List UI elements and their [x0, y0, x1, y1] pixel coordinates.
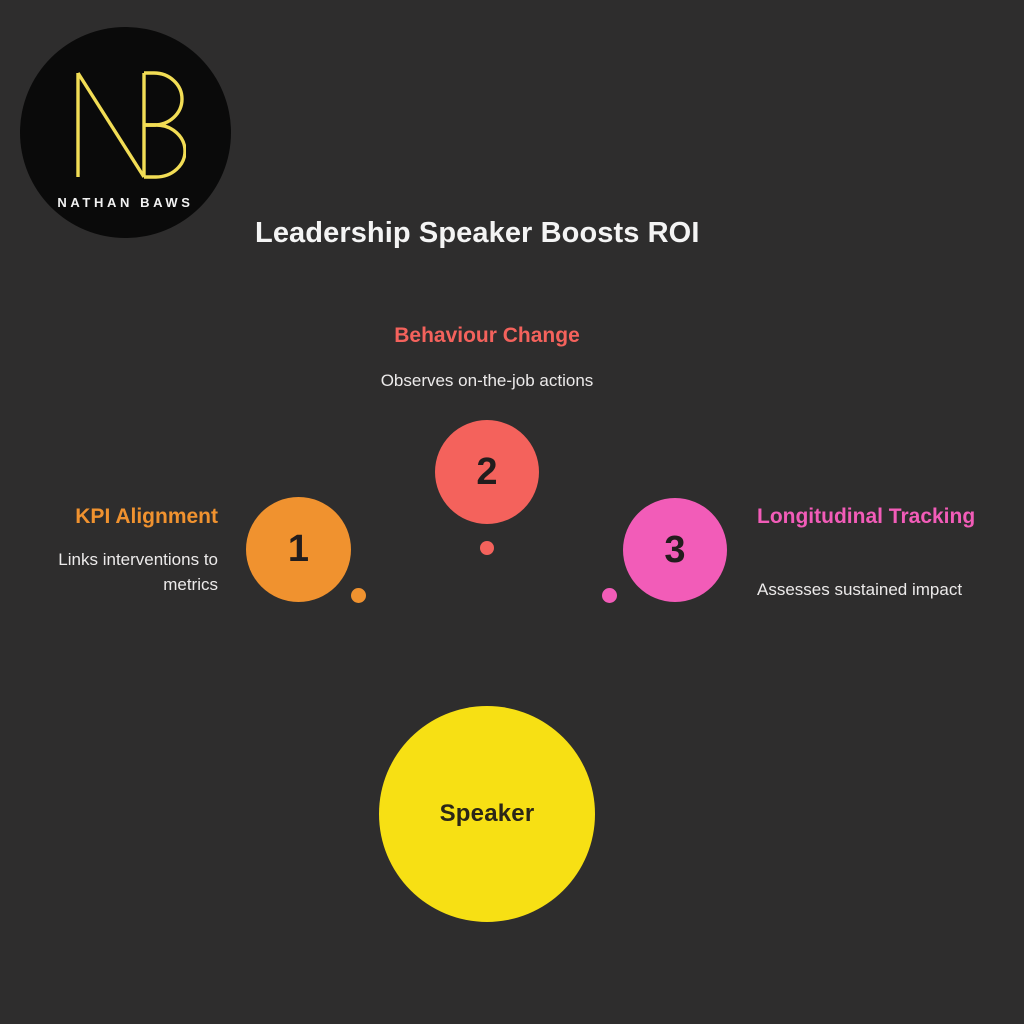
brand-logo-badge: NATHAN BAWS — [20, 27, 231, 238]
node-accent-dot-3 — [602, 588, 617, 603]
node-description-kpi-alignment: Links interventions to metrics — [0, 548, 218, 597]
node-accent-dot-2 — [480, 541, 494, 555]
logo-wordmark: NATHAN BAWS — [20, 195, 231, 210]
node-heading-longitudinal-tracking: Longitudinal Tracking — [757, 501, 1007, 533]
node-bubble-2[interactable]: 2 — [435, 420, 539, 524]
center-bubble-speaker[interactable]: Speaker — [379, 706, 595, 922]
center-bubble-label: Speaker — [440, 800, 535, 828]
node-heading-kpi-alignment: KPI Alignment — [0, 505, 218, 529]
node-accent-dot-1 — [351, 588, 366, 603]
node-number-3: 3 — [664, 529, 685, 572]
infographic-canvas: NATHAN BAWS Leadership Speaker Boosts RO… — [0, 0, 1024, 1024]
node-description-behaviour-change: Observes on-the-job actions — [287, 369, 687, 394]
node-heading-behaviour-change: Behaviour Change — [287, 324, 687, 348]
node-number-2: 2 — [476, 451, 497, 494]
node-bubble-3[interactable]: 3 — [623, 498, 727, 602]
node-description-longitudinal-tracking: Assesses sustained impact — [757, 578, 1009, 603]
page-title: Leadership Speaker Boosts ROI — [255, 216, 815, 251]
nb-monogram-icon — [66, 65, 186, 183]
node-number-1: 1 — [288, 528, 309, 571]
node-bubble-1[interactable]: 1 — [246, 497, 351, 602]
